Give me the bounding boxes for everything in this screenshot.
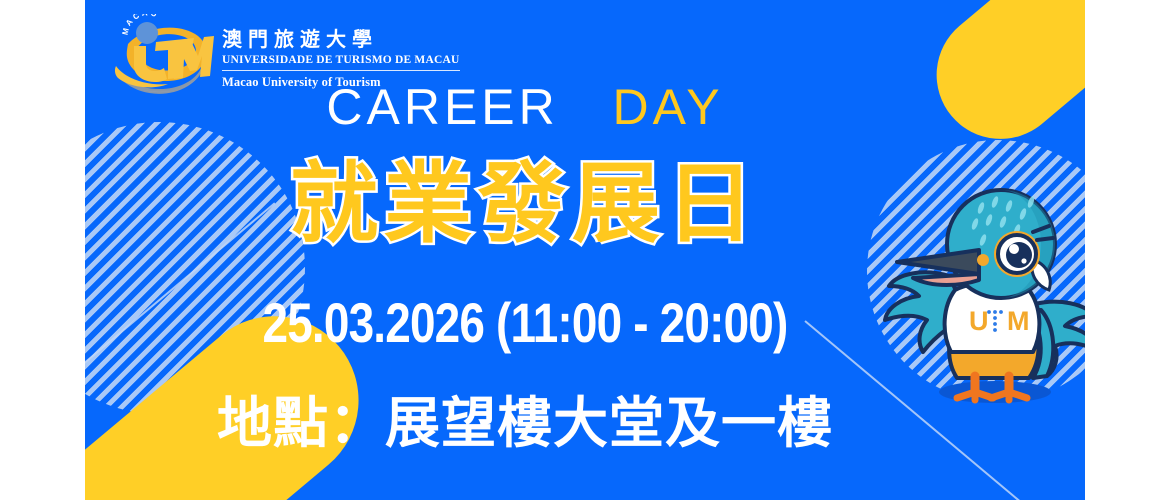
logo-chinese-name: 澳門旅遊大學 <box>222 28 460 51</box>
poster-canvas: MACAU 澳門旅遊大學 UNIVERSIDADE DE TURISMO DE … <box>85 0 1085 500</box>
yellow-capsule-top-right <box>910 0 1085 165</box>
kingfisher-mascot: U M <box>883 182 1085 412</box>
venue-line: 地點：展望樓大堂及一樓 <box>85 378 965 458</box>
date-time-line: 25.03.2026 (11:00 - 20:00) <box>164 290 886 355</box>
utm-logo-mark: MACAU <box>110 14 214 100</box>
logo-portuguese-name: UNIVERSIDADE DE TURISMO DE MACAU <box>222 53 460 71</box>
diagonal-line-left <box>85 202 275 396</box>
chinese-title: 就業發展日 <box>85 155 965 254</box>
day-word: DAY <box>612 79 723 135</box>
utm-logo-text: 澳門旅遊大學 UNIVERSIDADE DE TURISMO DE MACAU … <box>222 24 460 90</box>
logo-english-name: Macao University of Tourism <box>222 74 460 90</box>
striped-circle-left <box>85 122 305 414</box>
shirt-logo-u: U <box>969 306 989 336</box>
career-day-poster: MACAU 澳門旅遊大學 UNIVERSIDADE DE TURISMO DE … <box>0 0 1170 500</box>
yellow-capsule-bottom-left <box>85 282 393 500</box>
shirt-logo-m: M <box>1007 306 1030 336</box>
utm-logo-lockup: MACAU 澳門旅遊大學 UNIVERSIDADE DE TURISMO DE … <box>110 14 460 100</box>
